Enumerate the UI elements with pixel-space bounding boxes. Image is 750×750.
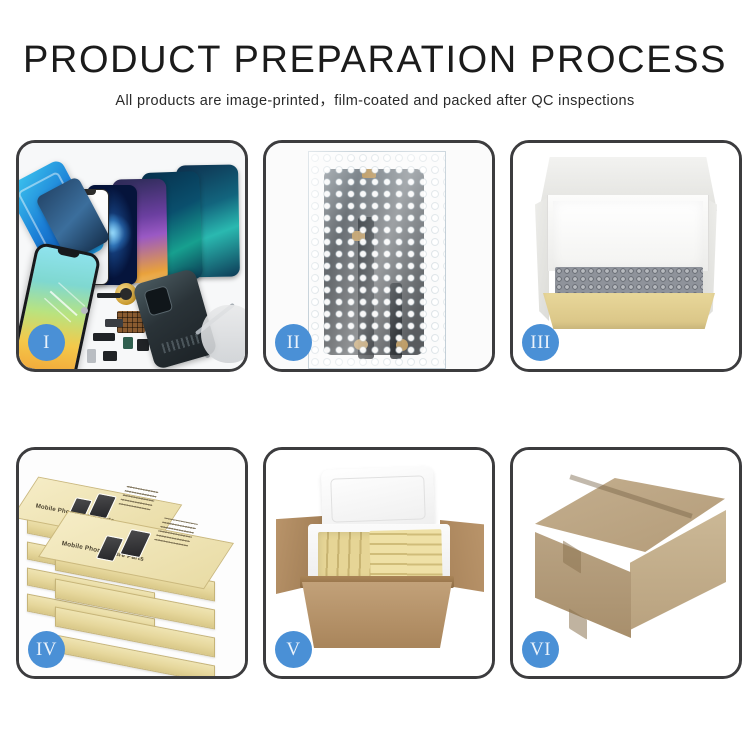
step-panel-4[interactable]: Mobile Phone Spare Parts Mobile Phone Sp… — [16, 447, 248, 679]
step-badge-4: IV — [28, 631, 65, 668]
part-battery-connector-icon — [103, 351, 117, 361]
part-camera-icon — [123, 337, 133, 349]
step-badge-2: II — [275, 324, 312, 361]
page-title: PRODUCT PREPARATION PROCESS — [0, 38, 750, 82]
step-badge-1: I — [28, 324, 65, 361]
part-flex-cable-icon — [93, 333, 115, 341]
part-screw-icon — [81, 307, 88, 314]
step-panel-3[interactable]: III — [510, 140, 742, 372]
kraft-box-front-icon — [543, 293, 715, 329]
page-header: PRODUCT PREPARATION PROCESS All products… — [0, 38, 750, 111]
packed-retail-boxes-row-2 — [369, 529, 442, 583]
step-panel-1[interactable]: I — [16, 140, 248, 372]
step-panel-2[interactable]: II — [263, 140, 495, 372]
step-panel-6[interactable]: VI — [510, 447, 742, 679]
white-foam-sheet-icon — [553, 201, 703, 269]
product-preparation-process-page: PRODUCT PREPARATION PROCESS All products… — [0, 0, 750, 750]
step-badge-5: V — [275, 631, 312, 668]
step-badge-3: III — [522, 324, 559, 361]
bubble-wrap-bag-icon — [308, 151, 446, 369]
step-badge-6: VI — [522, 631, 559, 668]
part-module-icon — [105, 319, 123, 327]
foam-lid-icon — [321, 466, 435, 532]
part-connector-icon — [97, 293, 121, 298]
page-subtitle: All products are image-printed，film-coat… — [0, 91, 750, 111]
step-panel-5[interactable]: V — [263, 447, 495, 679]
part-sim-tray-icon — [87, 349, 96, 363]
process-steps-grid: I II — [16, 140, 734, 679]
carton-body-icon — [302, 582, 452, 648]
